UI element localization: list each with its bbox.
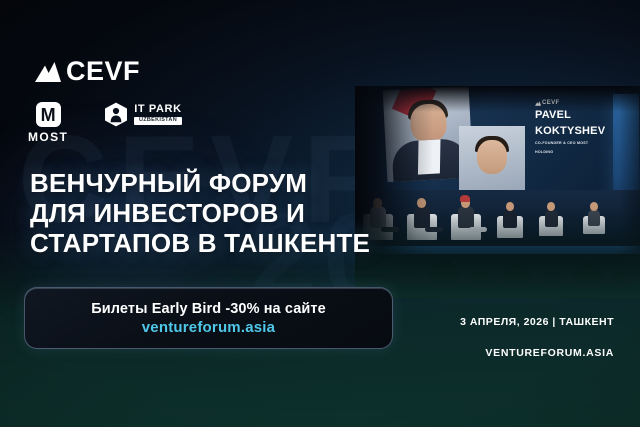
headline-line-2: ДЛЯ ИНВЕСТОРОВ И <box>30 198 370 228</box>
event-promo-banner: CEVF 2026 CEVF <box>0 0 640 427</box>
brand-logo[interactable]: CEVF <box>35 58 140 85</box>
mountain-chevron-icon <box>35 62 61 82</box>
it-park-hexagon-icon <box>104 102 128 127</box>
most-monogram: M <box>41 106 56 124</box>
it-park-text-block: IT PARK UZBEKISTAN <box>134 104 181 126</box>
cta-url-link[interactable]: ventureforum.asia <box>142 319 275 336</box>
buy-tickets-cta-button[interactable]: Билеты Early Bird -30% на сайте venturef… <box>24 287 393 349</box>
it-park-wordmark: IT PARK <box>134 104 181 115</box>
partner-logo-it-park[interactable]: IT PARK UZBEKISTAN <box>104 102 181 127</box>
cta-label: Билеты Early Bird -30% на сайте <box>91 301 325 317</box>
partner-logos: M MOST IT PARK UZBEKISTAN <box>28 102 182 144</box>
page-title: ВЕНЧУРНЫЙ ФОРУМ ДЛЯ ИНВЕСТОРОВ И СТАРТАП… <box>30 168 370 258</box>
headline-line-3: СТАРТАПОВ В ТАШКЕНТЕ <box>30 228 370 258</box>
conference-photo: CEVF PAVEL KOKTYSHEV CO-FOUNDER & CEO MO… <box>355 86 640 298</box>
most-logo-icon: M <box>36 102 61 127</box>
photo-fade-bottom <box>355 208 640 298</box>
event-date-location: 3 АПРЕЛЯ, 2026 | ТАШКЕНТ <box>460 316 614 328</box>
it-park-country-badge: UZBEKISTAN <box>134 117 181 126</box>
partner-logo-most[interactable]: M MOST <box>28 102 68 144</box>
panelist-turban <box>460 195 470 202</box>
event-meta: 3 АПРЕЛЯ, 2026 | ТАШКЕНТ VENTUREFORUM.AS… <box>460 316 614 359</box>
headline-line-1: ВЕНЧУРНЫЙ ФОРУМ <box>30 168 370 198</box>
brand-wordmark: CEVF <box>66 58 140 85</box>
event-website[interactable]: VENTUREFORUM.ASIA <box>460 347 614 359</box>
most-wordmark: MOST <box>28 130 68 144</box>
